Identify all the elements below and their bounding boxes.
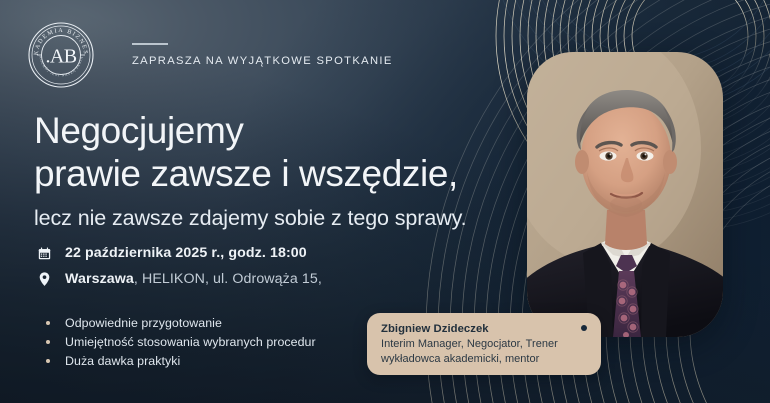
event-date-text: 22 października 2025 r., godz. 18:00 [65,245,307,261]
speaker-role-line-2: wykładowca akademicki, mentor [381,352,587,367]
svg-text:.AB: .AB [46,46,77,68]
event-location-soft: , HELIKON, ul. Odrowąża 15, [134,271,322,287]
academy-logo: AKADEMIA BIZNESU ROZWÓJ JEST NASZĄ PASJĄ… [28,22,94,88]
list-item-label: Odpowiednie przygotowanie [65,316,222,330]
event-meta: 22 października 2025 r., godz. 18:00 War… [34,240,322,292]
headline-line-2: prawie zawsze i wszędzie, [34,153,534,196]
headline-block: Negocjujemy prawie zawsze i wszędzie, le… [34,110,534,232]
event-location-row: Warszawa, HELIKON, ul. Odrowąża 15, [34,266,322,292]
event-date-strong: 22 października 2025 r., godz. 18:00 [65,245,307,261]
event-date-row: 22 października 2025 r., godz. 18:00 [34,240,322,266]
headline-subline: lecz nie zawsze zdajemy sobie z tego spr… [34,206,534,232]
header-text-block: ZAPRASZA NA WYJĄTKOWE SPOTKANIE [132,43,393,67]
speaker-portrait [527,52,723,337]
poster-header: AKADEMIA BIZNESU ROZWÓJ JEST NASZĄ PASJĄ… [28,22,393,88]
list-item: Odpowiednie przygotowanie [46,313,316,332]
speaker-name: Zbigniew Dzideczek [381,322,587,337]
status-dot-icon [581,325,587,331]
benefits-list: Odpowiednie przygotowanie Umiejętność st… [46,313,316,370]
speaker-card: Zbigniew Dzideczek Interim Manager, Nego… [367,313,601,375]
map-pin-icon [34,272,54,286]
headline-line-1: Negocjujemy [34,110,534,153]
list-item: Umiejętność stosowania wybranych procedu… [46,332,316,351]
header-kicker: ZAPRASZA NA WYJĄTKOWE SPOTKANIE [132,55,393,67]
event-location-text: Warszawa, HELIKON, ul. Odrowąża 15, [65,271,322,287]
list-item-label: Duża dawka praktyki [65,354,180,368]
bullet-dot-icon [46,321,50,325]
bullet-dot-icon [46,340,50,344]
poster-canvas: AKADEMIA BIZNESU ROZWÓJ JEST NASZĄ PASJĄ… [0,0,770,403]
list-item: Duża dawka praktyki [46,351,316,370]
speaker-role-line-1: Interim Manager, Negocjator, Trener [381,337,587,352]
calendar-icon [34,247,54,260]
header-divider-rule [132,43,168,45]
event-location-strong: Warszawa [65,271,134,287]
list-item-label: Umiejętność stosowania wybranych procedu… [65,335,316,349]
bullet-dot-icon [46,359,50,363]
